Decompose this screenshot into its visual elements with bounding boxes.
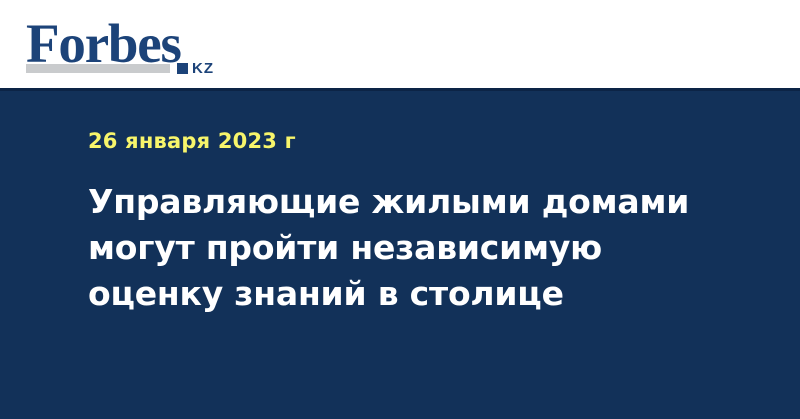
headline-line: Управляющие жилыми домами [88, 179, 708, 225]
page-title: Управляющие жилыми домами могут пройти н… [88, 179, 708, 317]
site-header: Forbes KZ [0, 0, 800, 88]
logo-suffix-kz: KZ [192, 61, 214, 76]
forbes-kz-logo[interactable]: Forbes KZ [26, 16, 226, 78]
headline-line: могут пройти независимую [88, 225, 708, 271]
square-icon [177, 63, 188, 74]
logo-gray-bar [26, 64, 170, 73]
article-card: Forbes KZ 26 января 2023 г Управляющие ж… [0, 0, 800, 419]
headline-line: оценку знаний в столице [88, 271, 708, 317]
article-body: 26 января 2023 г Управляющие жилыми дома… [0, 91, 800, 419]
article-date: 26 января 2023 г [88, 129, 296, 153]
